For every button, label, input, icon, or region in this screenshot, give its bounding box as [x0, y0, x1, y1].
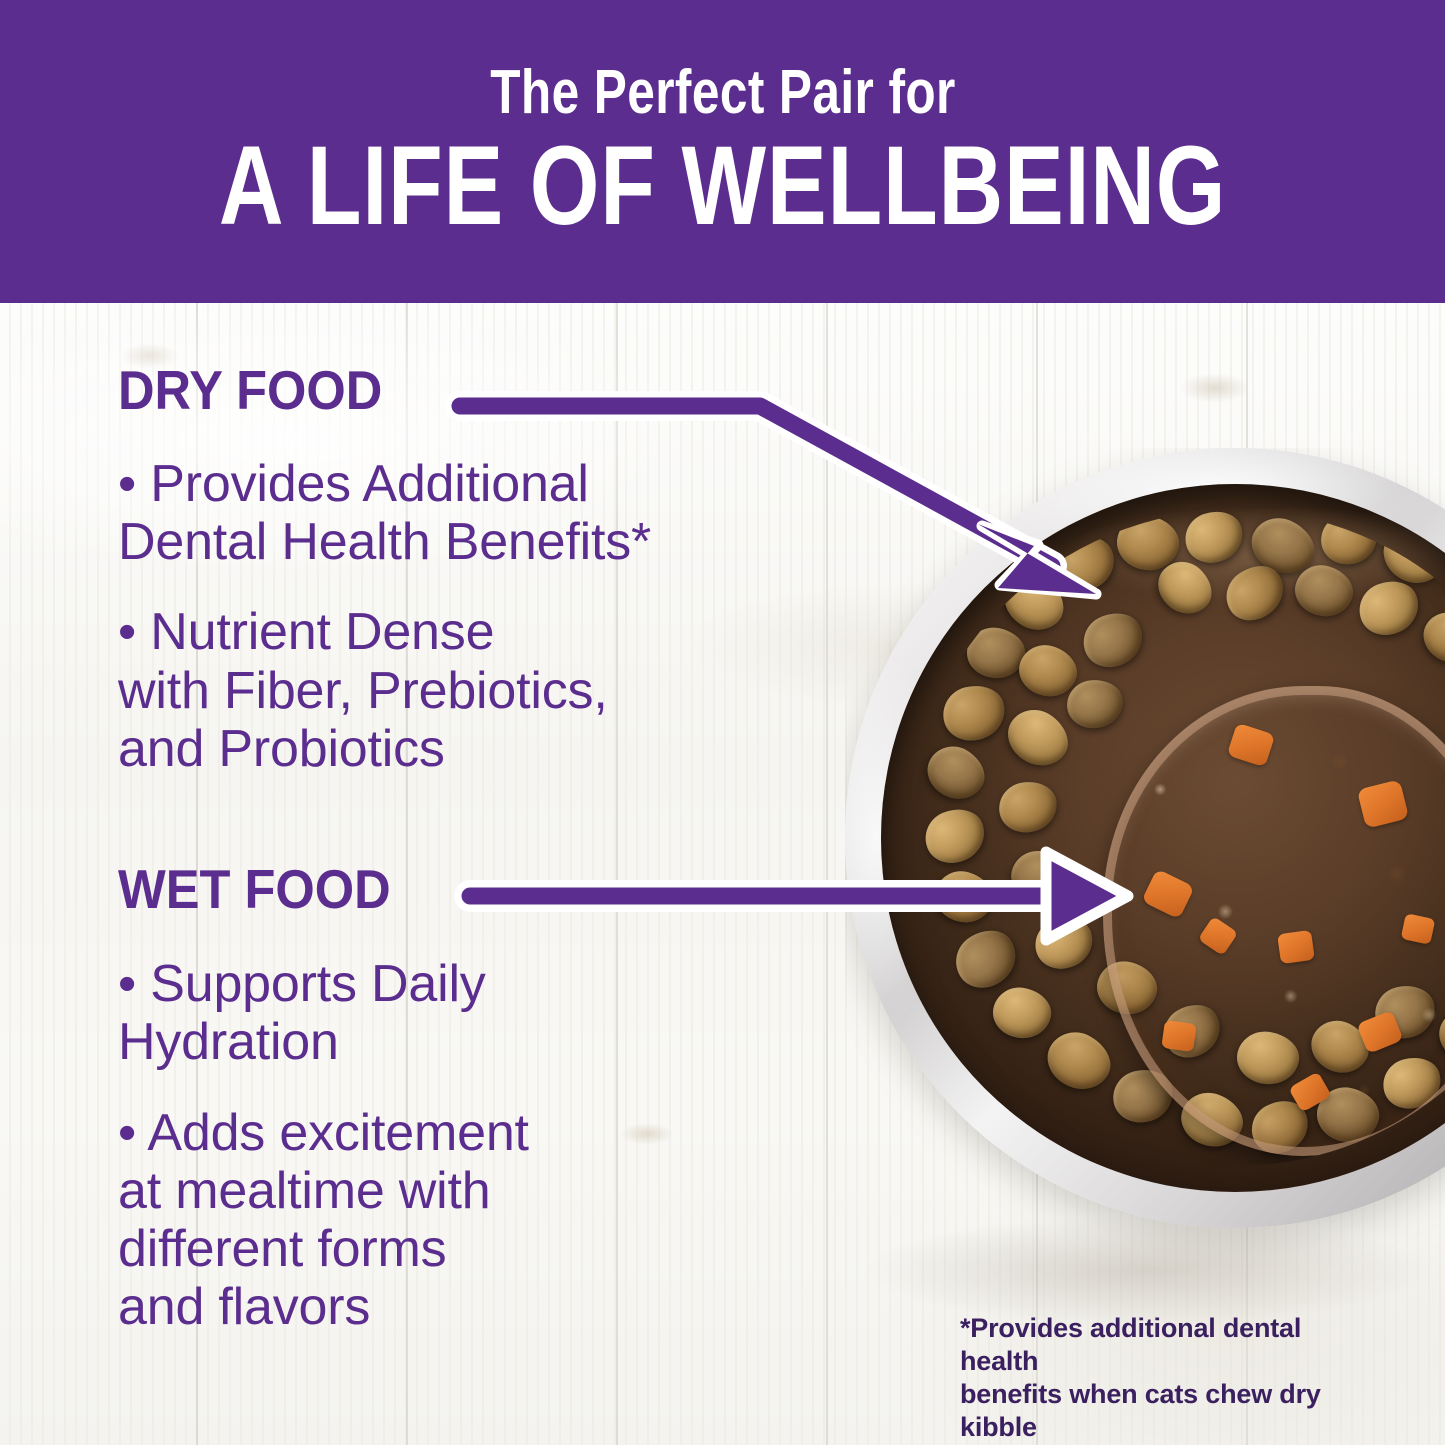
- bullet-wet-1-line-1: • Supports Daily: [118, 955, 838, 1013]
- bullet-dry-1: • Provides Additional Dental Health Bene…: [118, 455, 838, 571]
- benefits-copy-column: DRY FOOD • Provides Additional Dental He…: [118, 363, 838, 1337]
- bullet-dry-2-line-3: and Probiotics: [118, 720, 838, 778]
- section-title-wet-food: WET FOOD: [118, 862, 780, 917]
- header-banner: The Perfect Pair for A LIFE OF WELLBEING: [0, 0, 1445, 303]
- carrot-piece: [1161, 1020, 1197, 1052]
- bowl-inner: [845, 448, 1445, 1293]
- infographic-page: The Perfect Pair for A LIFE OF WELLBEING: [0, 0, 1445, 1445]
- carrot-piece: [1277, 930, 1315, 964]
- footnote: *Provides additional dental health benef…: [960, 1312, 1380, 1444]
- bullet-wet-1-line-2: Hydration: [118, 1013, 838, 1071]
- section-title-dry-food: DRY FOOD: [118, 363, 780, 418]
- bullet-wet-2-line-2: at mealtime with: [118, 1162, 838, 1220]
- bullet-dry-2: • Nutrient Dense with Fiber, Prebiotics,…: [118, 603, 838, 778]
- footnote-line-1: *Provides additional dental health: [960, 1312, 1380, 1378]
- wet-food-group: WET FOOD • Supports Daily Hydration • Ad…: [118, 862, 838, 1336]
- bullet-wet-2-line-1: • Adds excitement: [118, 1104, 838, 1162]
- wet-food-pate: [1103, 686, 1445, 1156]
- bullet-wet-2: • Adds excitement at mealtime with diffe…: [118, 1104, 838, 1337]
- bullet-wet-2-line-3: different forms: [118, 1220, 838, 1278]
- bullet-wet-2-line-4: and flavors: [118, 1278, 838, 1336]
- banner-title: A LIFE OF WELLBEING: [219, 130, 1226, 242]
- bullet-dry-2-line-2: with Fiber, Prebiotics,: [118, 662, 838, 720]
- bullet-dry-1-line-2: Dental Health Benefits*: [118, 513, 838, 571]
- bullet-dry-2-line-1: • Nutrient Dense: [118, 603, 838, 661]
- banner-subtitle: The Perfect Pair for: [490, 62, 956, 124]
- product-bowl-image: [845, 448, 1445, 1293]
- bullet-wet-1: • Supports Daily Hydration: [118, 955, 838, 1071]
- wood-knot: [1180, 373, 1250, 403]
- bullet-dry-1-line-1: • Provides Additional: [118, 455, 838, 513]
- pate-edge: [1103, 686, 1445, 1156]
- footnote-line-2: benefits when cats chew dry kibble: [960, 1378, 1380, 1444]
